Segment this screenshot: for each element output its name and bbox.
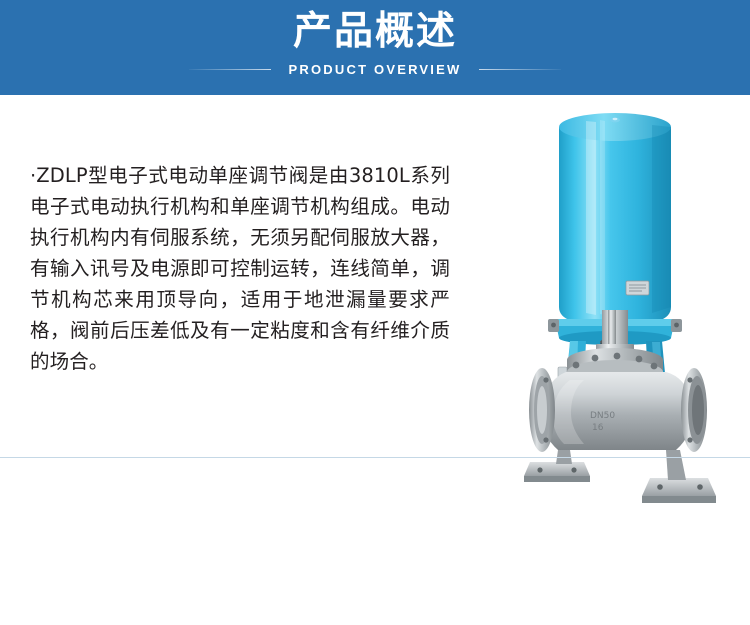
support-base-plates — [524, 462, 716, 503]
body-pressure-mark: 16 — [592, 423, 604, 433]
outlet-flange — [681, 368, 707, 452]
base-plate-right — [642, 478, 716, 496]
product-description: ·ZDLP型电子式电动单座调节阀是由3810L系列电子式电动执行机构和单座调节机… — [30, 160, 450, 377]
bottom-divider — [0, 457, 750, 458]
subtitle-row: PRODUCT OVERVIEW — [0, 62, 750, 77]
body-casting-mark: DN50 — [590, 411, 615, 421]
content-area: ·ZDLP型电子式电动单座调节阀是由3810L系列电子式电动执行机构和单座调节机… — [0, 95, 750, 462]
base-plate-left — [524, 462, 590, 476]
page-subtitle: PRODUCT OVERVIEW — [289, 62, 462, 77]
subtitle-rule-right — [479, 69, 561, 70]
page-title: 产品概述 — [0, 9, 750, 55]
page-header-banner: 产品概述 PRODUCT OVERVIEW — [0, 0, 750, 95]
valve-body-figure: DN50 16 — [500, 275, 750, 625]
valve-body-illustration: DN50 16 — [500, 275, 750, 625]
bonnet-neck — [596, 310, 634, 354]
inlet-flange — [529, 368, 555, 452]
globe-valve-body: DN50 16 — [542, 372, 693, 450]
subtitle-rule-left — [189, 69, 271, 70]
